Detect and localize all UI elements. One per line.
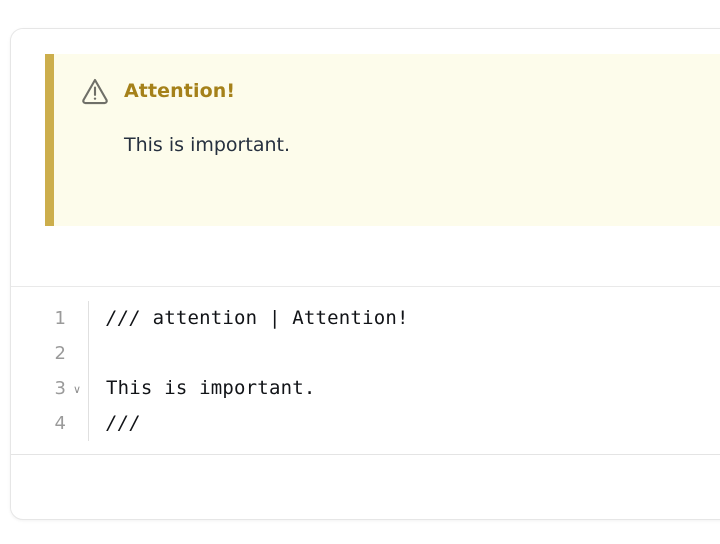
callout-preview-pane: Attention! This is important. (11, 29, 720, 287)
code-token: attention | Attention! (153, 307, 409, 329)
code-row[interactable]: 1∨/// attention | Attention! (11, 301, 720, 336)
line-number: 4 (38, 415, 66, 433)
callout-title: Attention! (124, 82, 235, 101)
screenshot-stage: Attention! This is important. 1∨/// atte… (0, 0, 720, 544)
code-line-text[interactable]: /// (89, 406, 720, 441)
line-number: 1 (38, 310, 66, 328)
code-token: This is important. (106, 377, 316, 399)
code-row[interactable]: 3∨This is important. (11, 371, 720, 406)
source-code-pane[interactable]: 1∨/// attention | Attention!2∨3∨This is … (11, 287, 720, 455)
code-row[interactable]: 2∨ (11, 336, 720, 371)
card-footer-spacer (11, 455, 720, 515)
attention-callout: Attention! This is important. (45, 54, 720, 226)
code-line-text[interactable]: /// attention | Attention! (89, 301, 720, 336)
chevron-down-icon[interactable]: ∨ (66, 382, 88, 396)
code-line-text[interactable]: This is important. (89, 371, 720, 406)
code-row[interactable]: 4∨/// (11, 406, 720, 441)
code-gutter-cell: 2∨ (11, 336, 89, 371)
code-gutter-cell: 1∨ (11, 301, 89, 336)
code-token: /// (106, 307, 153, 329)
callout-header: Attention! (80, 76, 720, 106)
documentation-example-card: Attention! This is important. 1∨/// atte… (10, 28, 720, 520)
code-token: /// (106, 412, 141, 434)
line-number: 2 (38, 345, 66, 363)
line-number: 3 (38, 380, 66, 398)
code-line-list: 1∨/// attention | Attention!2∨3∨This is … (11, 301, 720, 441)
warning-triangle-icon (80, 76, 110, 106)
callout-body-text: This is important. (124, 133, 720, 158)
code-gutter-cell: 3∨ (11, 371, 89, 406)
code-gutter-cell: 4∨ (11, 406, 89, 441)
